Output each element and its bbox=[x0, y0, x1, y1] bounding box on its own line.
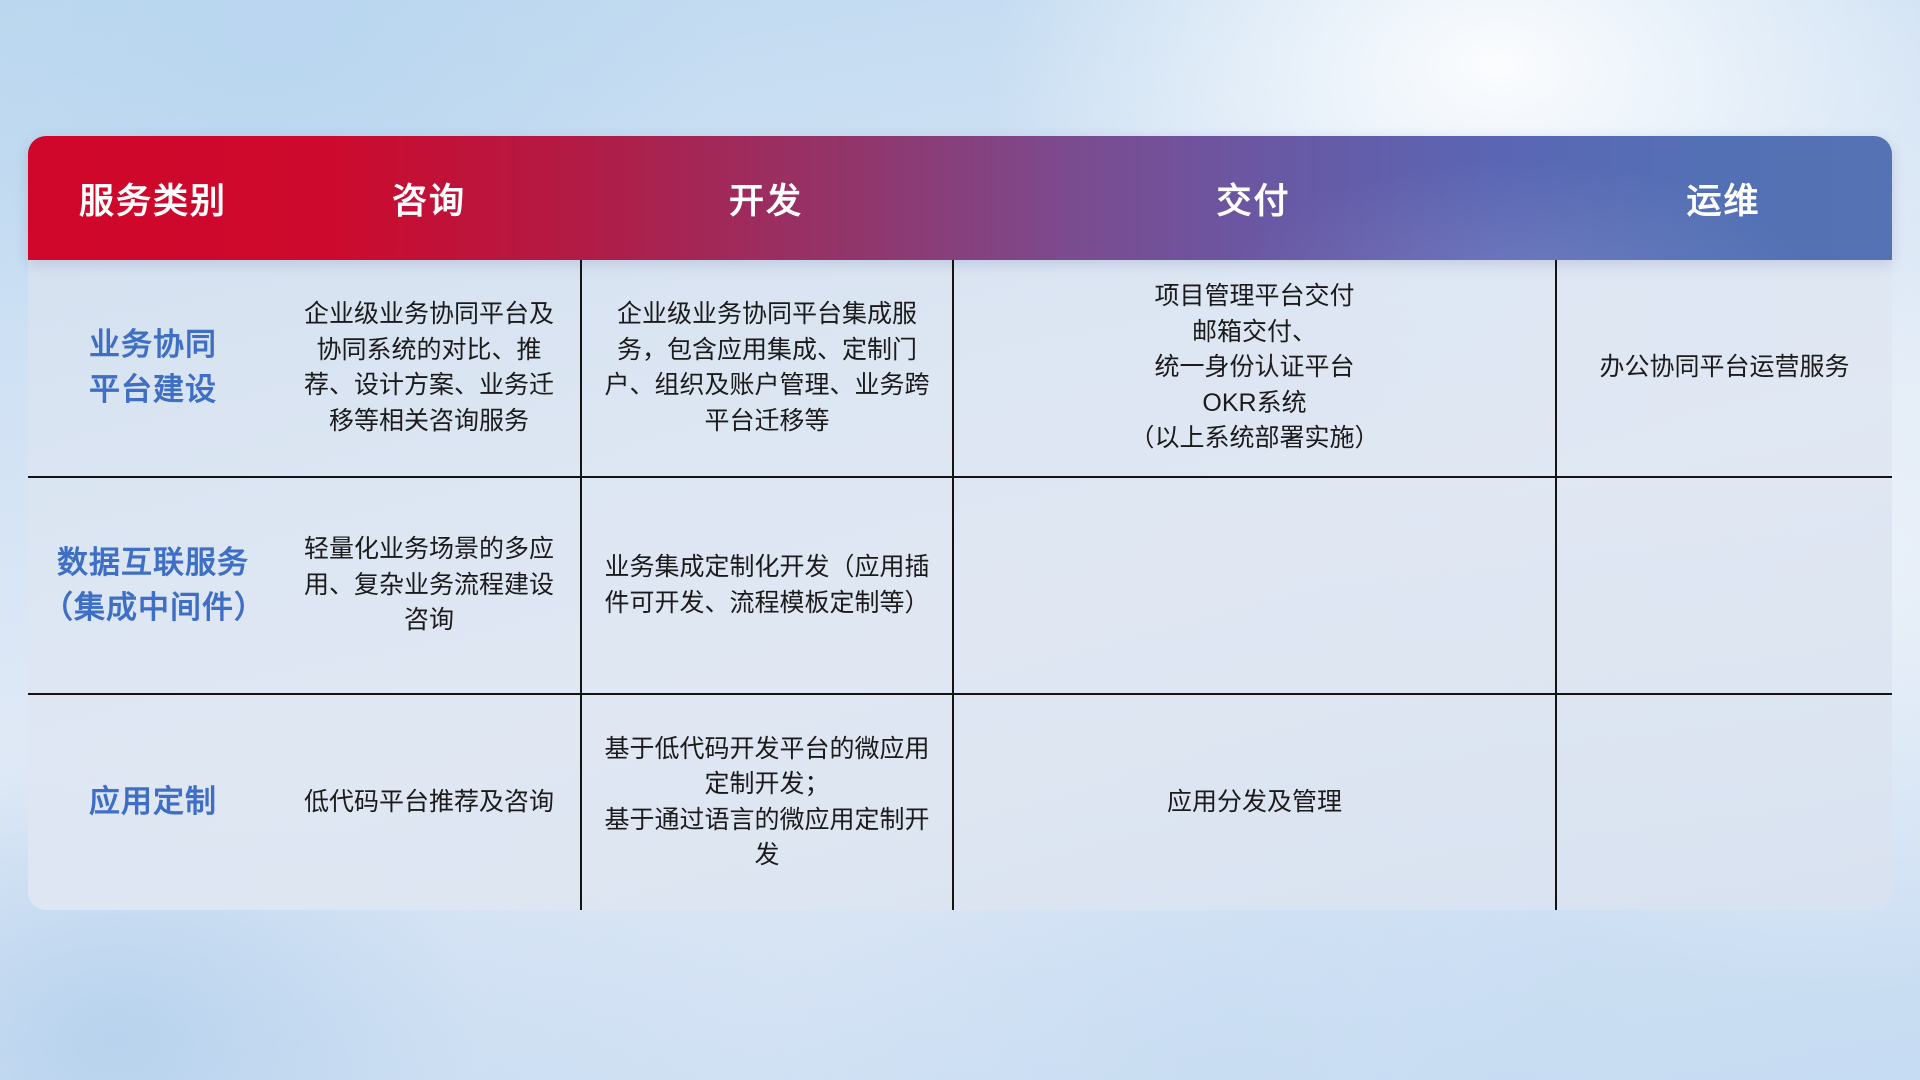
column-header-development: 开发 bbox=[580, 173, 952, 224]
cell-operations bbox=[1555, 478, 1892, 693]
cell-development: 业务集成定制化开发（应用插件可开发、流程模板定制等） bbox=[580, 478, 952, 693]
category-line: （集成中间件） bbox=[42, 586, 264, 631]
table-body: 业务协同 平台建设 企业级业务协同平台及协同系统的对比、推荐、设计方案、业务迁移… bbox=[28, 260, 1892, 910]
cell-operations: 办公协同平台运营服务 bbox=[1555, 260, 1892, 476]
row-category-cell: 应用定制 bbox=[28, 695, 278, 910]
cell-delivery bbox=[952, 478, 1555, 693]
development-line: 基于通过语言的微应用定制开发 bbox=[596, 803, 938, 874]
table-header-row: 服务类别 咨询 开发 交付 运维 bbox=[28, 136, 1892, 260]
cell-development: 基于低代码开发平台的微应用定制开发； 基于通过语言的微应用定制开发 bbox=[580, 695, 952, 910]
cell-consulting: 轻量化业务场景的多应用、复杂业务流程建设咨询 bbox=[278, 478, 580, 693]
column-header-category: 服务类别 bbox=[28, 173, 278, 224]
delivery-line: 项目管理平台交付 bbox=[1129, 279, 1379, 315]
delivery-line: （以上系统部署实施） bbox=[1129, 421, 1379, 457]
cell-development: 企业级业务协同平台集成服务，包含应用集成、定制门户、组织及账户管理、业务跨平台迁… bbox=[580, 260, 952, 476]
column-header-operations: 运维 bbox=[1555, 173, 1892, 224]
cell-consulting: 低代码平台推荐及咨询 bbox=[278, 695, 580, 910]
delivery-line: 统一身份认证平台 bbox=[1129, 350, 1379, 386]
cell-operations bbox=[1555, 695, 1892, 910]
cell-delivery: 应用分发及管理 bbox=[952, 695, 1555, 910]
row-category-cell: 数据互联服务 （集成中间件） bbox=[28, 478, 278, 693]
category-line: 业务协同 bbox=[89, 323, 217, 368]
category-line: 数据互联服务 bbox=[42, 541, 264, 586]
category-line: 平台建设 bbox=[89, 368, 217, 413]
category-line: 应用定制 bbox=[89, 780, 217, 825]
cell-consulting: 企业级业务协同平台及协同系统的对比、推荐、设计方案、业务迁移等相关咨询服务 bbox=[278, 260, 580, 476]
delivery-line: OKR系统 bbox=[1129, 386, 1379, 422]
service-matrix-table: 服务类别 咨询 开发 交付 运维 业务协同 平台建设 企业级业务协同平台及协同系… bbox=[28, 136, 1892, 910]
row-category-cell: 业务协同 平台建设 bbox=[28, 260, 278, 476]
cell-delivery: 项目管理平台交付 邮箱交付、 统一身份认证平台 OKR系统 （以上系统部署实施） bbox=[952, 260, 1555, 476]
table-row: 业务协同 平台建设 企业级业务协同平台及协同系统的对比、推荐、设计方案、业务迁移… bbox=[28, 260, 1892, 476]
table-row: 应用定制 低代码平台推荐及咨询 基于低代码开发平台的微应用定制开发； 基于通过语… bbox=[28, 693, 1892, 910]
table-row: 数据互联服务 （集成中间件） 轻量化业务场景的多应用、复杂业务流程建设咨询 业务… bbox=[28, 476, 1892, 693]
column-header-delivery: 交付 bbox=[952, 173, 1555, 224]
delivery-line: 邮箱交付、 bbox=[1129, 315, 1379, 351]
development-line: 基于低代码开发平台的微应用定制开发； bbox=[596, 732, 938, 803]
column-header-consulting: 咨询 bbox=[278, 173, 580, 224]
